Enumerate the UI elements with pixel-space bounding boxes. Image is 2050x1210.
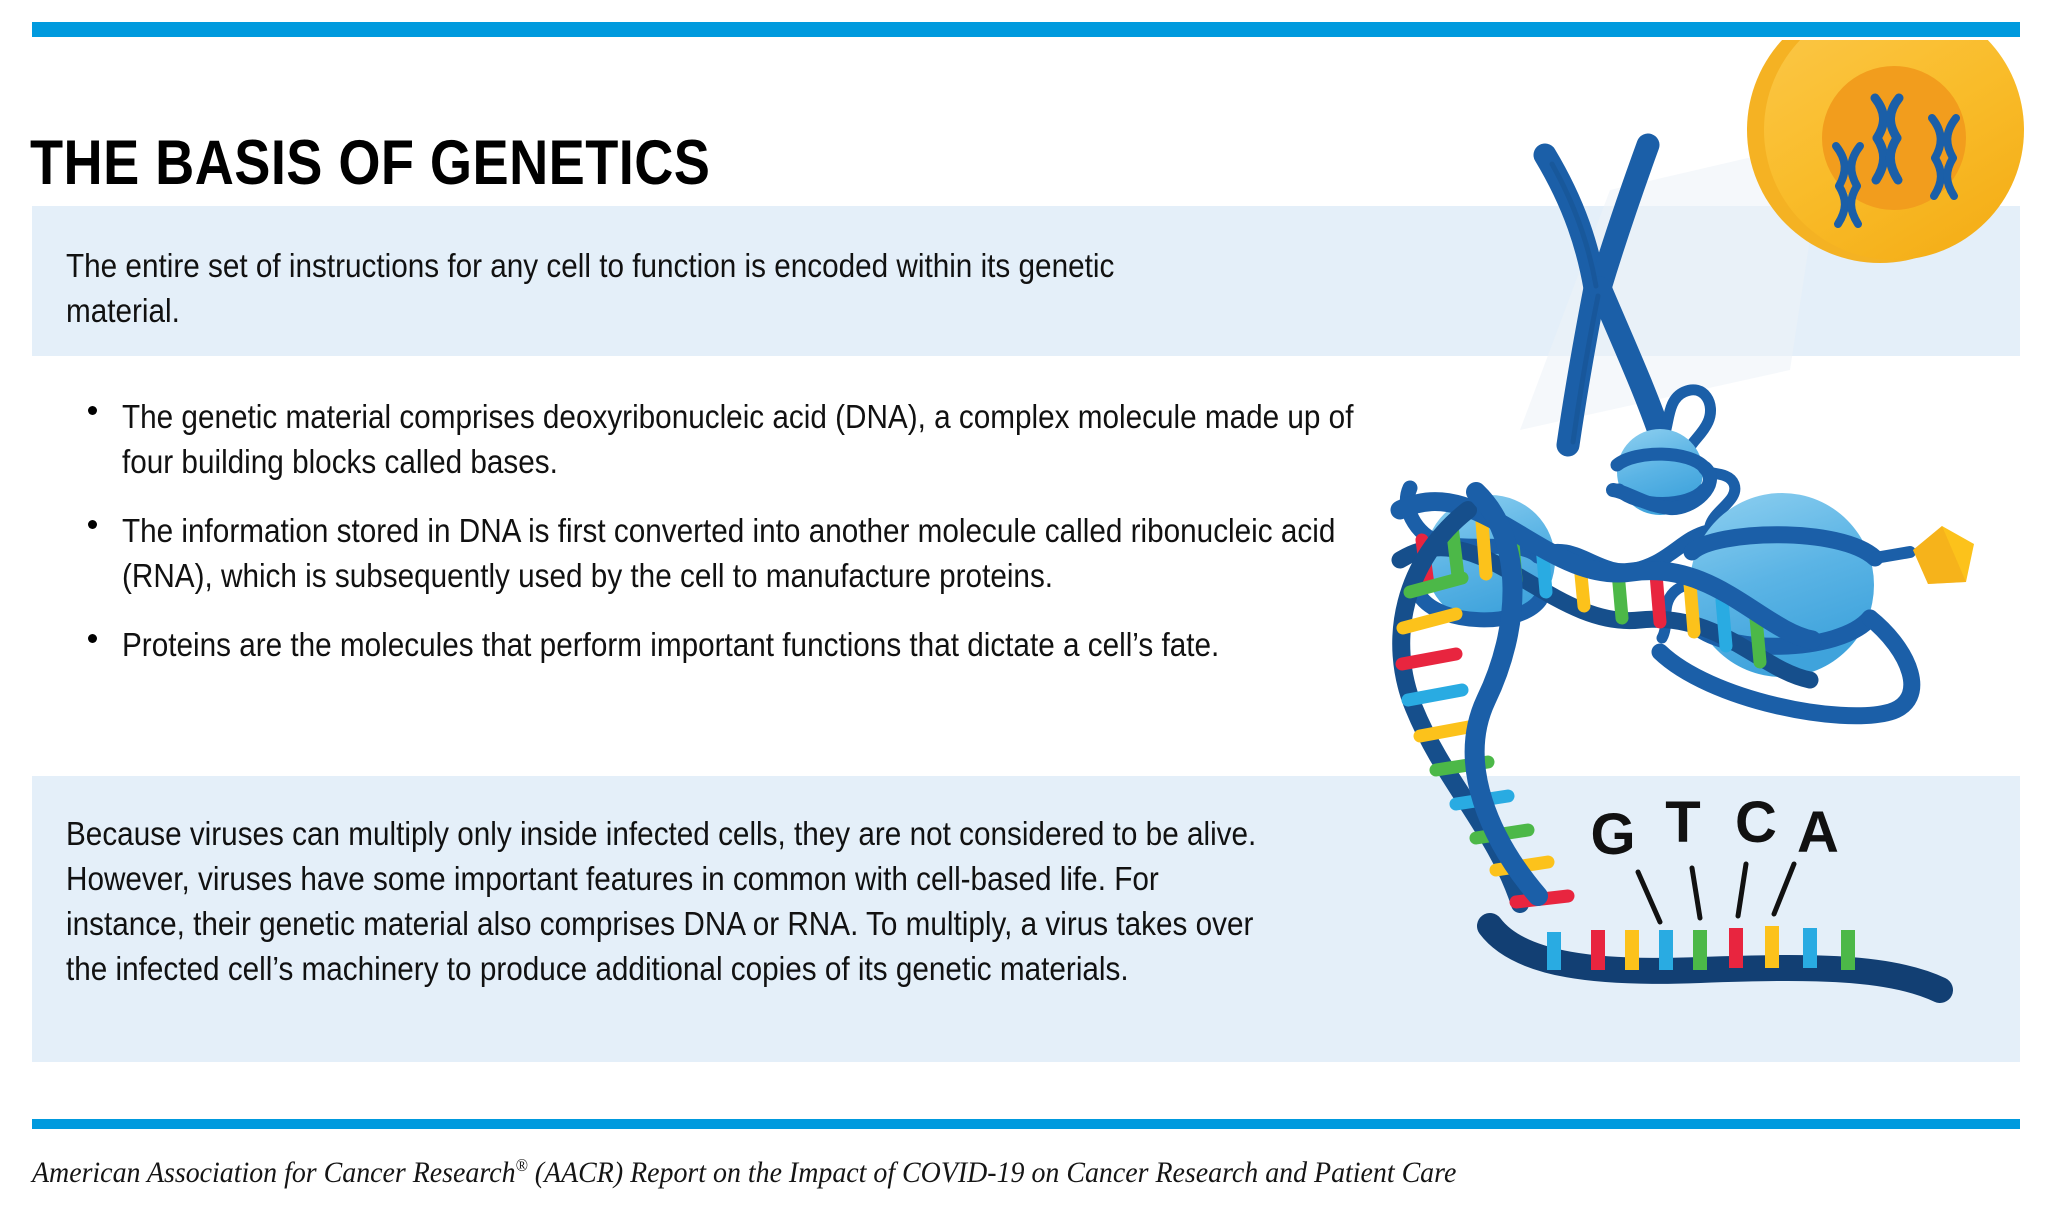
- top-accent-rule: [32, 22, 2020, 37]
- footer-text-after: (AACR) Report on the Impact of COVID-19 …: [528, 1156, 1457, 1189]
- summary-text: Because viruses can multiply only inside…: [66, 811, 1263, 991]
- bullet-dot-icon: [88, 634, 97, 643]
- chromatin-fiber-icon: [1662, 390, 1735, 638]
- footer-citation: American Association for Cancer Research…: [32, 1155, 1456, 1190]
- list-item: The information stored in DNA is first c…: [88, 508, 1378, 598]
- histone-beads-icon: [1407, 429, 1974, 716]
- bullet-dot-icon: [88, 520, 97, 529]
- registered-trademark-icon: ®: [516, 1155, 528, 1175]
- list-item-label: Proteins are the molecules that perform …: [122, 622, 1382, 667]
- list-item-label: The information stored in DNA is first c…: [122, 508, 1382, 598]
- bullet-list: The genetic material comprises deoxyribo…: [88, 394, 1378, 691]
- page-title: THE BASIS OF GENETICS: [30, 128, 710, 198]
- polymerase-pentagon-icon: [1913, 526, 1974, 584]
- intro-text: The entire set of instructions for any c…: [66, 243, 1191, 333]
- bottom-accent-rule: [32, 1119, 2020, 1129]
- list-item: Proteins are the molecules that perform …: [88, 622, 1378, 667]
- infographic-page: THE BASIS OF GENETICS The entire set of …: [0, 0, 2050, 1210]
- footer-text-before: American Association for Cancer Research: [32, 1156, 516, 1189]
- list-item-label: The genetic material comprises deoxyribo…: [122, 394, 1382, 484]
- list-item: The genetic material comprises deoxyribo…: [88, 394, 1378, 484]
- bullet-dot-icon: [88, 406, 97, 415]
